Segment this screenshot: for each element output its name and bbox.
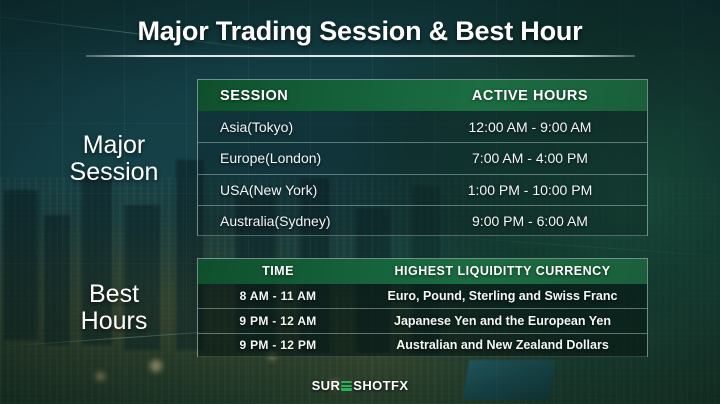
table-row: 8 AM - 11 AM Euro, Pound, Sterling and S… [198, 284, 647, 309]
table-row: Australia(Sydney) 9:00 PM - 6:00 AM [198, 205, 647, 236]
table-header-row: TIME HIGHEST LIQUIDITTY CURRENCY [198, 259, 647, 284]
infographic-canvas: Major Trading Session & Best Hour Major … [0, 0, 720, 404]
table-header-cell-active-hours: ACTIVE HOURS [413, 88, 647, 104]
major-session-label: Major Session [30, 132, 198, 185]
best-hours-label-line1: Best [30, 281, 198, 308]
cell-active-hours: 9:00 PM - 6:00 AM [413, 213, 647, 229]
table-header-row: SESSION ACTIVE HOURS [198, 80, 647, 111]
logo-text-part2: SHOTFX [353, 378, 408, 393]
cell-currency: Australian and New Zealand Dollars [358, 338, 647, 352]
best-hours-label-line2: Hours [30, 308, 198, 335]
cell-session: Europe(London) [198, 150, 413, 166]
cell-currency: Euro, Pound, Sterling and Swiss Franc [358, 289, 647, 303]
cell-time: 9 PM - 12 PM [198, 338, 358, 352]
cell-active-hours: 1:00 PM - 10:00 PM [413, 182, 647, 198]
table-header-cell-session: SESSION [198, 88, 413, 104]
brand-logo: SURSHOTFX [0, 378, 720, 393]
table-header-cell-liquidity-currency: HIGHEST LIQUIDITTY CURRENCY [358, 264, 647, 278]
title-underline [86, 55, 635, 57]
table-row: Europe(London) 7:00 AM - 4:00 PM [198, 142, 647, 173]
table-row: USA(New York) 1:00 PM - 10:00 PM [198, 174, 647, 205]
logo-text-part1: SUR [312, 378, 341, 393]
table-row: Asia(Tokyo) 12:00 AM - 9:00 AM [198, 111, 647, 142]
table-row: 9 PM - 12 AM Japanese Yen and the Europe… [198, 308, 647, 333]
major-session-label-line1: Major [30, 132, 198, 159]
major-session-label-line2: Session [30, 159, 198, 186]
table-header-cell-time: TIME [198, 264, 358, 278]
best-hours-table: TIME HIGHEST LIQUIDITTY CURRENCY 8 AM - … [197, 258, 648, 357]
cell-session: Australia(Sydney) [198, 213, 413, 229]
cell-session: USA(New York) [198, 182, 413, 198]
cell-active-hours: 7:00 AM - 4:00 PM [413, 150, 647, 166]
page-title: Major Trading Session & Best Hour [0, 16, 720, 47]
best-hours-label: Best Hours [30, 281, 198, 334]
major-session-table: SESSION ACTIVE HOURS Asia(Tokyo) 12:00 A… [197, 79, 648, 236]
table-row: 9 PM - 12 PM Australian and New Zealand … [198, 333, 647, 358]
cell-time: 8 AM - 11 AM [198, 289, 358, 303]
logo-e-bars-icon [341, 380, 352, 391]
cell-active-hours: 12:00 AM - 9:00 AM [413, 119, 647, 135]
cell-currency: Japanese Yen and the European Yen [358, 314, 647, 328]
cell-time: 9 PM - 12 AM [198, 314, 358, 328]
cell-session: Asia(Tokyo) [198, 119, 413, 135]
